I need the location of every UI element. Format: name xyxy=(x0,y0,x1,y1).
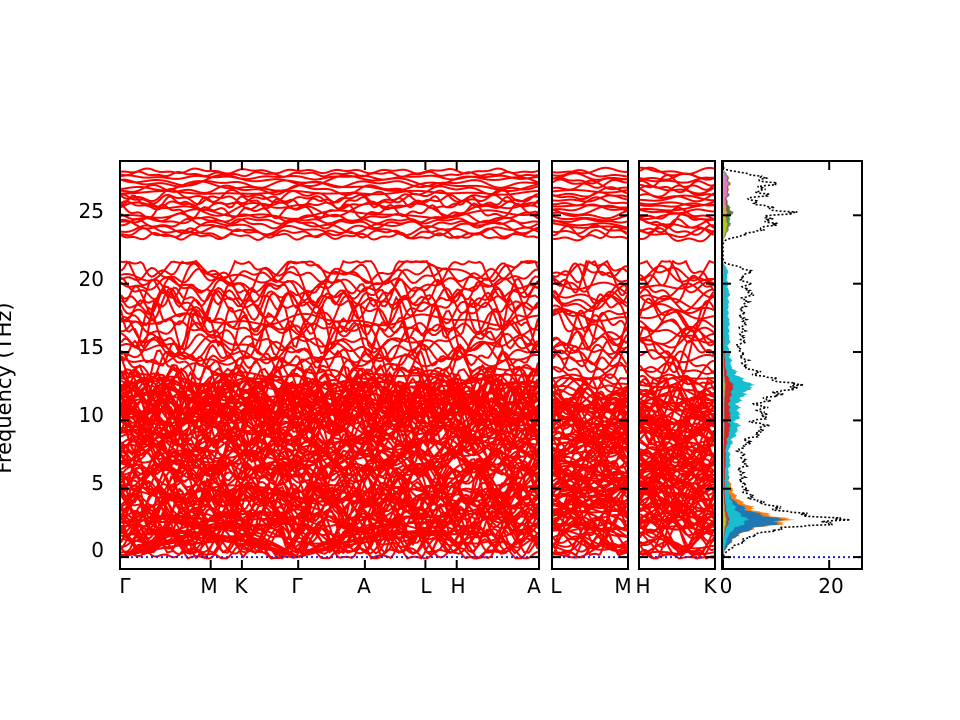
x-tick-label-gamma-2: Γ xyxy=(291,574,302,598)
y-tick-label-10: 10 xyxy=(60,403,104,427)
x-tick-label-dos-20: 20 xyxy=(818,574,843,598)
band-curves-main xyxy=(121,162,538,568)
y-tick-label-5: 5 xyxy=(60,471,104,495)
panel-HK-bands xyxy=(638,160,716,570)
x-tick-label-h-1: H xyxy=(450,574,465,598)
dos-curves xyxy=(723,162,861,568)
phonon-plot-figure: Frequency (THz) 0 5 10 15 20 25 Γ M K Γ … xyxy=(0,0,960,720)
panel-dos xyxy=(721,160,863,570)
y-tick-label-25: 25 xyxy=(60,199,104,223)
y-tick-label-15: 15 xyxy=(60,335,104,359)
band-curves-hk xyxy=(640,162,714,568)
y-tick-label-20: 20 xyxy=(60,267,104,291)
y-axis-label: Frequency (THz) xyxy=(0,238,16,538)
y-tick-label-0: 0 xyxy=(60,538,104,562)
x-tick-label-k-1: K xyxy=(234,574,247,598)
band-curves-lm xyxy=(553,162,627,568)
x-tick-label-dos-0: 0 xyxy=(720,574,733,598)
x-tick-label-k-2: K xyxy=(703,574,716,598)
x-tick-label-m-2: M xyxy=(614,574,631,598)
x-tick-label-l-2: L xyxy=(550,574,561,598)
panel-LM-bands xyxy=(551,160,629,570)
x-tick-label-a-1: A xyxy=(357,574,371,598)
x-tick-label-m-1: M xyxy=(200,574,217,598)
x-tick-label-h-2: H xyxy=(635,574,650,598)
x-tick-label-l-1: L xyxy=(420,574,431,598)
x-tick-label-gamma-1: Γ xyxy=(119,574,130,598)
panel-main-bands xyxy=(119,160,540,570)
x-tick-label-a-2: A xyxy=(527,574,541,598)
